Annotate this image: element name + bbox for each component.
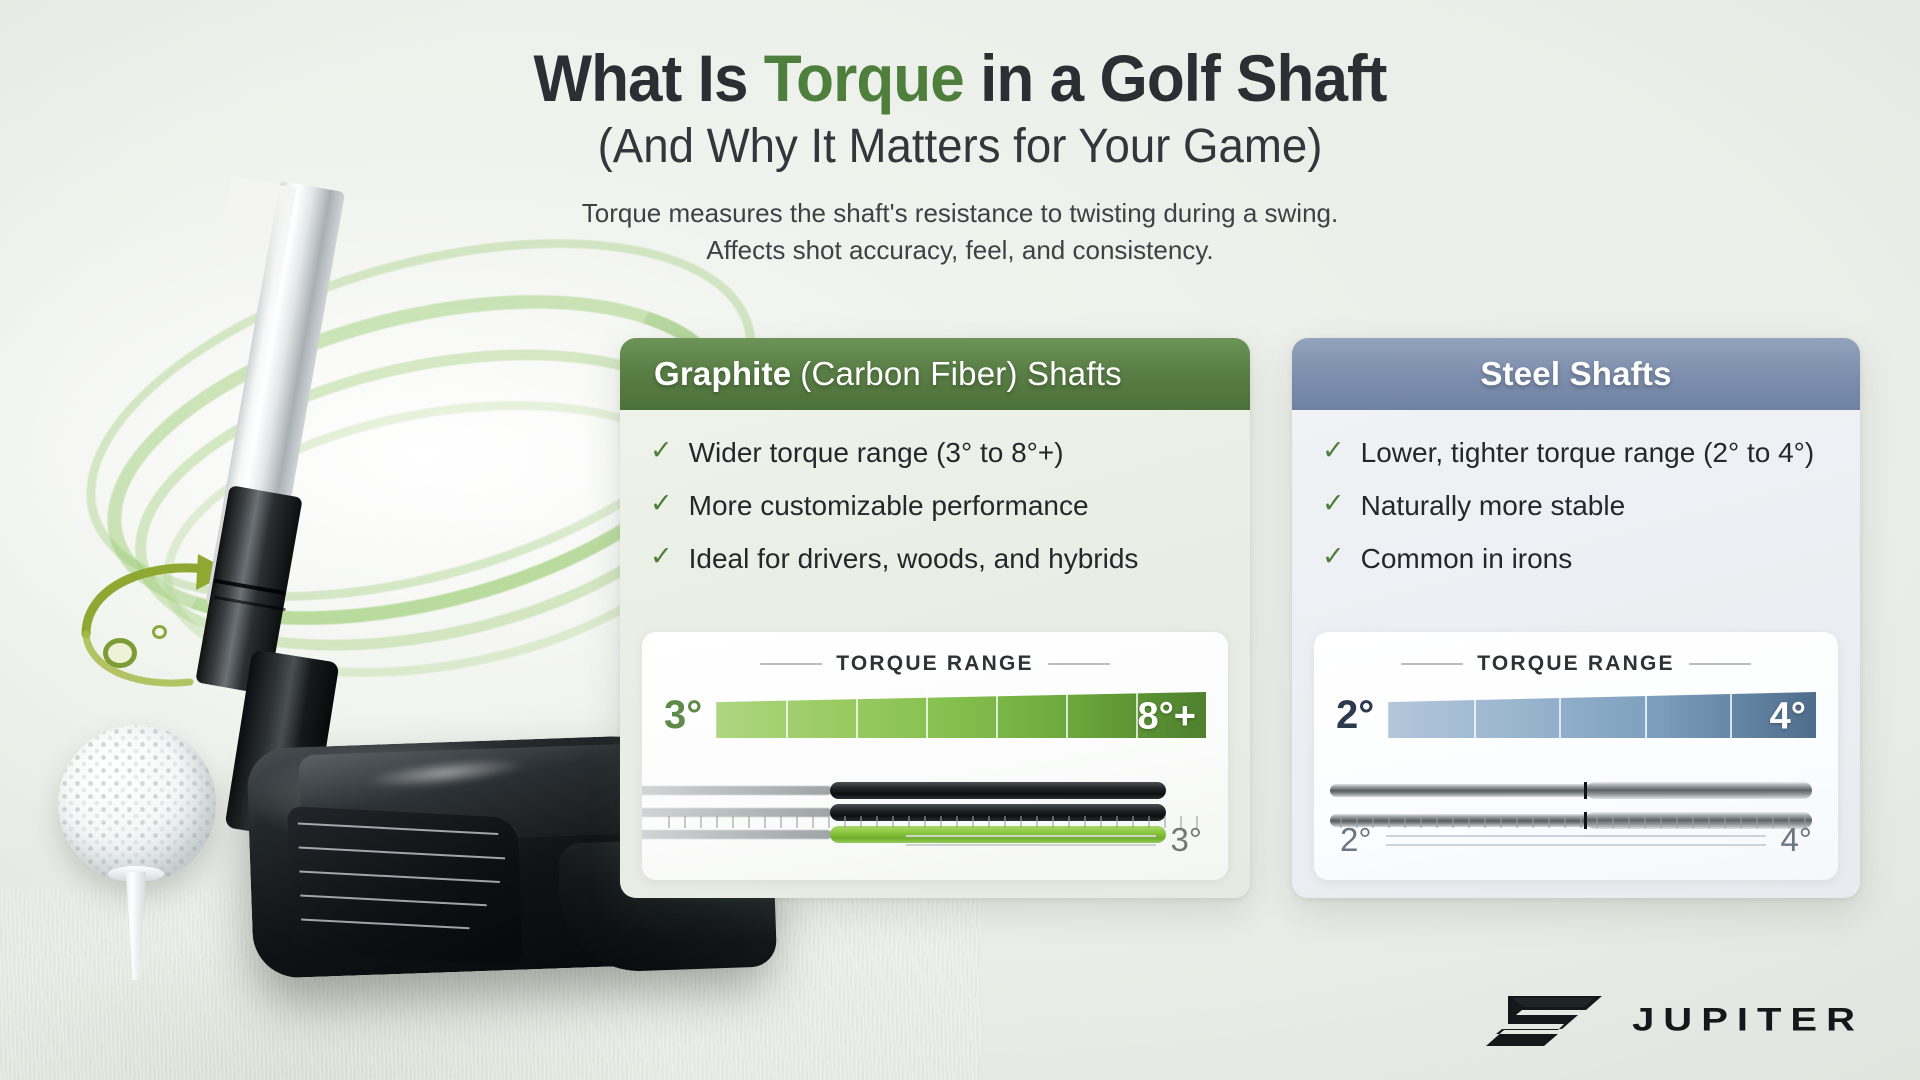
torque-range-heading: TORQUE RANGE [642,652,1228,676]
heading-rule-left [1401,663,1463,665]
intro-text: Torque measures the shaft's resistance t… [0,195,1920,269]
rotation-dot-small [152,625,167,639]
card-graphite-header: Graphite (Carbon Fiber) Shafts [620,338,1250,410]
torque-bar-row: 3° 8°+ [664,692,1206,738]
torque-bar: 8°+ [716,692,1206,738]
torque-bar-max-label: 4° [1770,696,1806,738]
heading-rule-left [760,663,822,665]
graphite-range-footer: 3° [642,814,1228,866]
steel-range-footer: 2° 4° [1314,814,1838,866]
check-icon: ✓ [650,489,673,517]
torque-bar-fill [1388,692,1816,738]
brand-logo: JUPITER [1482,992,1864,1048]
torque-bar-fill [716,692,1206,738]
rotation-dot-large [103,638,137,668]
check-icon: ✓ [1322,489,1345,517]
bullet-text: More customizable performance [689,489,1089,523]
title-highlight-torque: Torque [764,41,964,115]
range-footer-value: 3° [1170,821,1202,859]
bullet-text: Lower, tighter torque range (2° to 4°) [1361,436,1815,470]
comparison-cards: Graphite (Carbon Fiber) Shafts ✓ Wider t… [620,338,1860,908]
golf-ball-dimples-offset [58,725,216,883]
torque-range-label: TORQUE RANGE [836,652,1034,676]
range-footer-max: 4° [1780,821,1812,859]
brand-wordmark: JUPITER [1632,1002,1864,1039]
bullet-text: Ideal for drivers, woods, and hybrids [689,542,1139,576]
list-item: ✓ Wider torque range (3° to 8°+) [650,436,1216,470]
torque-bar: 4° [1388,692,1816,738]
card-steel-title-bold: Steel Shafts [1480,355,1671,393]
bullet-text: Naturally more stable [1361,489,1626,523]
check-icon: ✓ [1322,542,1345,570]
card-graphite-title-light: (Carbon Fiber) Shafts [800,355,1122,393]
page-subtitle: (And Why It Matters for Your Game) [48,121,1872,174]
torque-bar-min-label: 3° [664,693,702,738]
intro-line-1: Torque measures the shaft's resistance t… [0,195,1920,232]
title-part-2: in a Golf Shaft [964,41,1387,115]
check-icon: ✓ [650,542,673,570]
torque-bar-row: 2° 4° [1336,692,1816,738]
torque-range-label: TORQUE RANGE [1477,652,1675,676]
list-item: ✓ Naturally more stable [1322,489,1826,523]
page-title: What Is Torque in a Golf Shaft [58,44,1863,113]
bullet-text: Common in irons [1361,542,1573,576]
bullet-text: Wider torque range (3° to 8°+) [689,436,1064,470]
title-part-1: What Is [533,41,763,115]
list-item: ✓ Ideal for drivers, woods, and hybrids [650,542,1216,576]
heading-rule-right [1048,663,1110,665]
list-item: ✓ Common in irons [1322,542,1826,576]
golf-ball [58,725,216,883]
torque-bar-min-label: 2° [1336,693,1374,738]
range-footer-min: 2° [1340,821,1372,859]
card-steel: Steel Shafts ✓ Lower, tighter torque ran… [1292,338,1860,898]
card-graphite-bullets: ✓ Wider torque range (3° to 8°+) ✓ More … [620,410,1250,576]
check-icon: ✓ [1322,436,1345,464]
card-graphite: Graphite (Carbon Fiber) Shafts ✓ Wider t… [620,338,1250,898]
list-item: ✓ Lower, tighter torque range (2° to 4°) [1322,436,1826,470]
shaft-rod-chrome-1 [1586,782,1812,799]
card-graphite-torque-panel: TORQUE RANGE 3° 8°+ [642,632,1228,880]
intro-line-2: Affects shot accuracy, feel, and consist… [0,232,1920,269]
check-icon: ✓ [650,436,673,464]
range-rule-lines [1386,828,1767,853]
header: What Is Torque in a Golf Shaft (And Why … [0,0,1920,269]
torque-bar-max-label: 8°+ [1137,696,1196,738]
shaft-rod-black-1 [830,782,1166,799]
card-steel-bullets: ✓ Lower, tighter torque range (2° to 4°)… [1292,410,1860,576]
card-graphite-title-bold: Graphite [654,355,791,393]
torque-range-heading: TORQUE RANGE [1314,652,1838,676]
club-face [287,806,523,966]
card-steel-header: Steel Shafts [1292,338,1860,410]
range-rule-lines [906,828,1156,853]
card-steel-torque-panel: TORQUE RANGE 2° 4° [1314,632,1838,880]
list-item: ✓ More customizable performance [650,489,1216,523]
heading-rule-right [1689,663,1751,665]
sf-monogram-icon [1482,992,1610,1048]
